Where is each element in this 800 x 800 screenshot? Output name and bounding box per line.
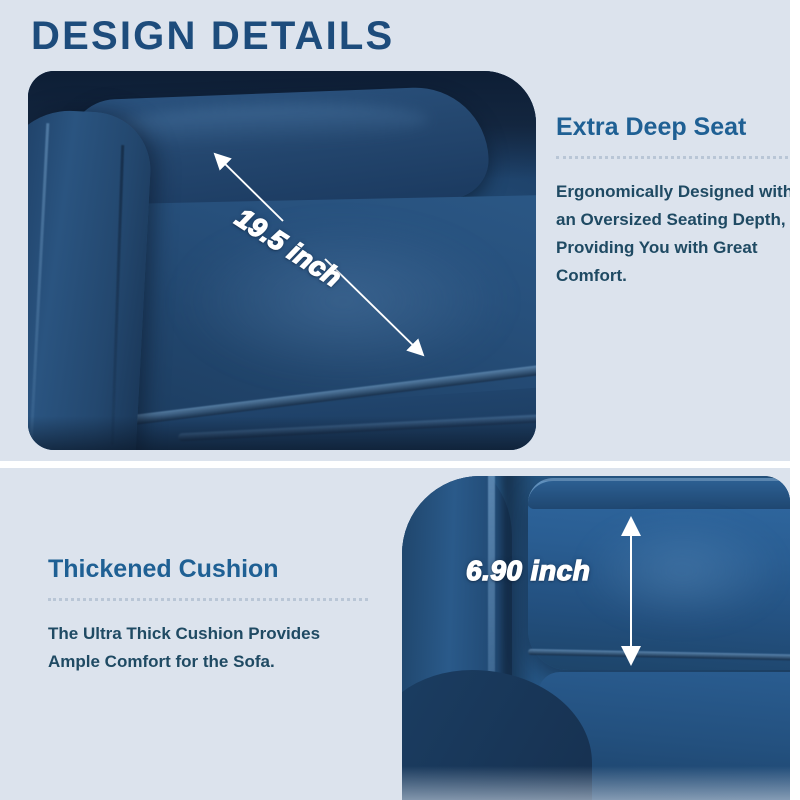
page-title: DESIGN DETAILS bbox=[31, 14, 394, 58]
photo-bottom-shadow bbox=[28, 416, 536, 450]
thickened-cushion-text-block: Thickened Cushion The Ultra Thick Cushio… bbox=[48, 554, 368, 676]
heading-divider bbox=[556, 156, 794, 162]
thickened-cushion-body: The Ultra Thick Cushion Provides Ample C… bbox=[48, 620, 368, 676]
extra-deep-seat-text-block: Extra Deep Seat Ergonomically Designed w… bbox=[556, 112, 794, 290]
section-extra-deep-seat: DESIGN DETAILS bbox=[0, 0, 790, 461]
extra-deep-seat-heading: Extra Deep Seat bbox=[556, 112, 794, 142]
sofa-thick-cushion-top-edge bbox=[528, 478, 790, 509]
sofa-cushion-photo bbox=[402, 476, 790, 800]
extra-deep-seat-body: Ergonomically Designed with an Oversized… bbox=[556, 178, 794, 290]
design-details-infographic: DESIGN DETAILS bbox=[0, 0, 800, 800]
thickness-measurement-label: 6.90 inch bbox=[466, 555, 590, 587]
photo2-bottom-fade bbox=[402, 766, 790, 800]
sofa-thick-cushion-sheen bbox=[582, 516, 782, 626]
heading-divider-2 bbox=[48, 598, 368, 604]
right-white-margin bbox=[790, 0, 800, 800]
section-divider-gap bbox=[0, 461, 800, 468]
sofa-seat-sheen bbox=[178, 221, 508, 381]
thickened-cushion-heading: Thickened Cushion bbox=[48, 554, 368, 584]
